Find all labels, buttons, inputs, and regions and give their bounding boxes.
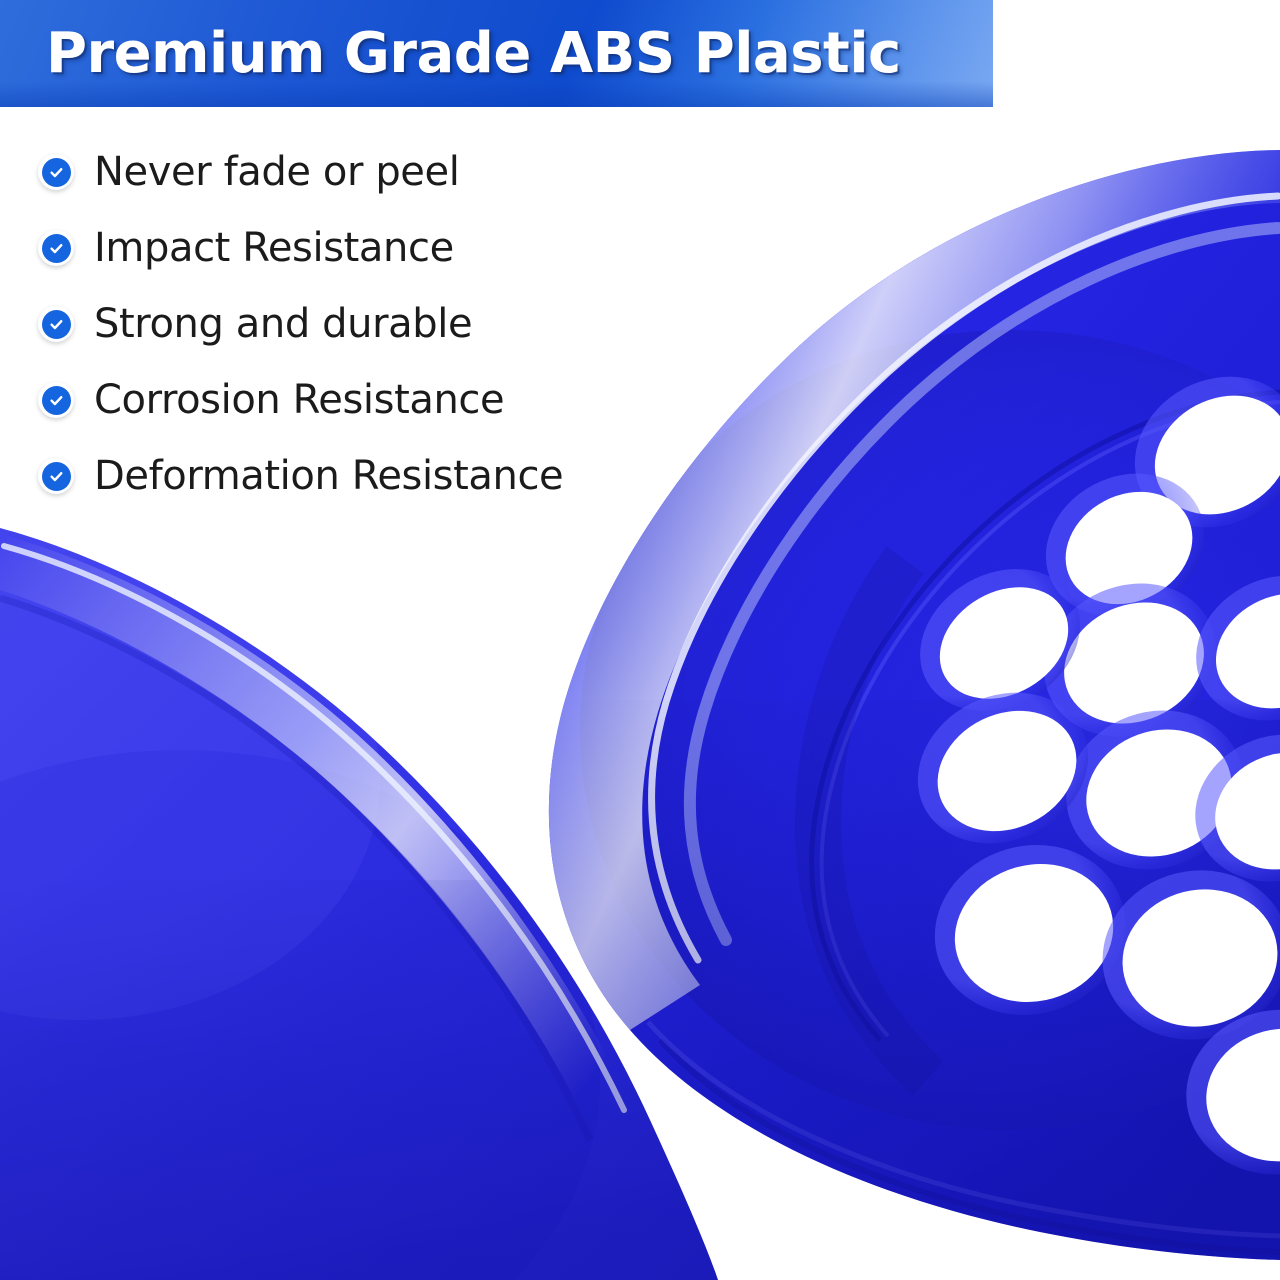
list-item: Strong and durable — [38, 286, 698, 362]
list-item: Never fade or peel — [38, 134, 698, 210]
check-circle-icon — [38, 458, 74, 494]
check-circle-icon — [38, 230, 74, 266]
list-item: Deformation Resistance — [38, 438, 698, 514]
feature-list: Never fade or peel Impact Resistance — [38, 134, 698, 514]
product-feature-image: Premium Grade ABS Plastic Never fade or … — [0, 0, 1280, 1280]
check-circle-icon — [38, 382, 74, 418]
list-item: Corrosion Resistance — [38, 362, 698, 438]
feature-label: Corrosion Resistance — [94, 380, 504, 420]
feature-label: Impact Resistance — [94, 228, 454, 268]
header-banner: Premium Grade ABS Plastic — [0, 0, 993, 107]
feature-label: Never fade or peel — [94, 152, 459, 192]
list-item: Impact Resistance — [38, 210, 698, 286]
feature-label: Deformation Resistance — [94, 456, 563, 496]
check-circle-icon — [38, 154, 74, 190]
feature-label: Strong and durable — [94, 304, 472, 344]
check-circle-icon — [38, 306, 74, 342]
page-title: Premium Grade ABS Plastic — [0, 26, 901, 82]
